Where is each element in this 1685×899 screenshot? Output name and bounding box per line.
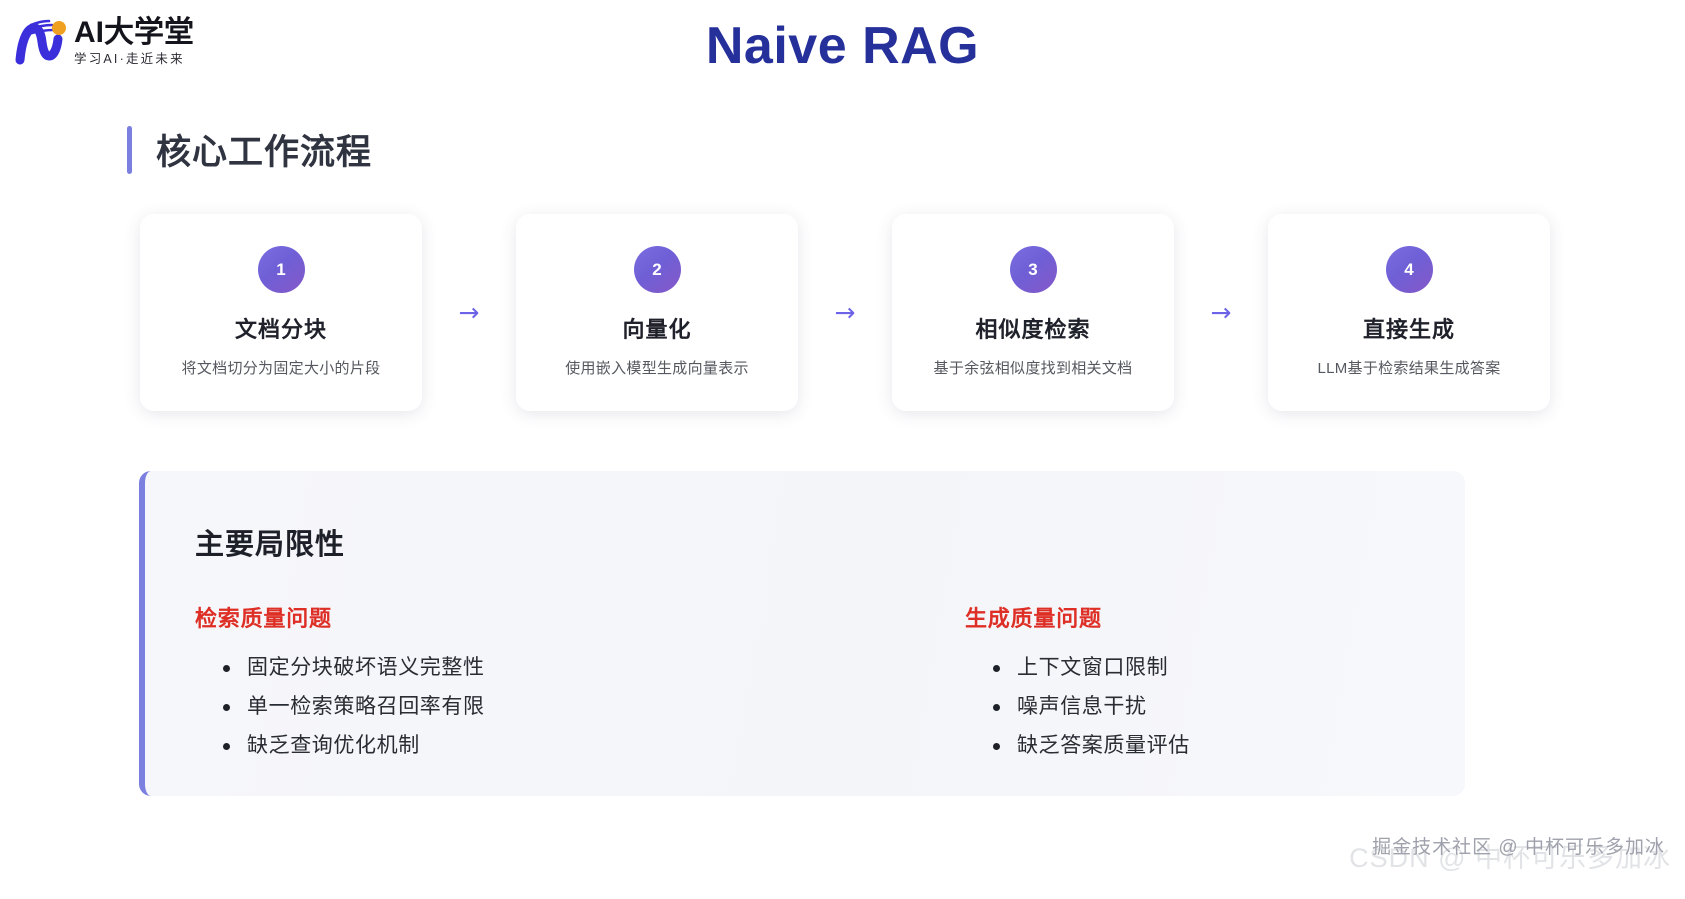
step-description: 基于余弦相似度找到相关文档 bbox=[934, 357, 1133, 378]
flow-card-2[interactable]: 2 向量化 使用嵌入模型生成向量表示 bbox=[516, 214, 798, 411]
limitations-subtitle: 检索质量问题 bbox=[195, 601, 835, 633]
arrow-right-icon: → bbox=[828, 300, 862, 325]
limitations-panel: 主要局限性 检索质量问题 固定分块破坏语义完整性 单一检索策略召回率有限 缺乏查… bbox=[139, 471, 1465, 796]
section-accent-bar bbox=[127, 126, 132, 174]
list-item: 缺乏答案质量评估 bbox=[993, 735, 1475, 756]
arrow-right-icon: → bbox=[1204, 300, 1238, 325]
list-item: 噪声信息干扰 bbox=[993, 696, 1475, 717]
flow-card-3[interactable]: 3 相似度检索 基于余弦相似度找到相关文档 bbox=[892, 214, 1174, 411]
limitations-column-generation: 生成质量问题 上下文窗口限制 噪声信息干扰 缺乏答案质量评估 bbox=[835, 601, 1475, 774]
flow-card-4[interactable]: 4 直接生成 LLM基于检索结果生成答案 bbox=[1268, 214, 1550, 411]
list-item: 上下文窗口限制 bbox=[993, 657, 1475, 678]
workflow-steps: 1 文档分块 将文档切分为固定大小的片段 → 2 向量化 使用嵌入模型生成向量表… bbox=[140, 214, 1550, 411]
list-item: 缺乏查询优化机制 bbox=[223, 735, 835, 756]
list-item: 单一检索策略召回率有限 bbox=[223, 696, 835, 717]
step-title: 直接生成 bbox=[1363, 312, 1455, 344]
limitations-list: 上下文窗口限制 噪声信息干扰 缺乏答案质量评估 bbox=[965, 657, 1475, 756]
step-number-badge: 1 bbox=[258, 246, 305, 293]
section-heading: 核心工作流程 bbox=[127, 124, 372, 175]
limitations-subtitle: 生成质量问题 bbox=[965, 601, 1475, 633]
step-title: 向量化 bbox=[622, 312, 691, 344]
step-title: 相似度检索 bbox=[975, 312, 1090, 344]
page-title: Naive RAG bbox=[0, 16, 1685, 76]
step-title: 文档分块 bbox=[235, 312, 327, 344]
step-number-badge: 3 bbox=[1010, 246, 1057, 293]
limitations-columns: 检索质量问题 固定分块破坏语义完整性 单一检索策略召回率有限 缺乏查询优化机制 … bbox=[195, 601, 1465, 774]
arrow-right-icon: → bbox=[452, 300, 486, 325]
limitations-list: 固定分块破坏语义完整性 单一检索策略召回率有限 缺乏查询优化机制 bbox=[195, 657, 835, 756]
step-description: 将文档切分为固定大小的片段 bbox=[182, 357, 381, 378]
watermark-main: 掘金技术社区 @ 中杯可乐多加冰 bbox=[1372, 832, 1665, 859]
step-description: LLM基于检索结果生成答案 bbox=[1317, 357, 1500, 378]
step-number-badge: 4 bbox=[1386, 246, 1433, 293]
flow-card-1[interactable]: 1 文档分块 将文档切分为固定大小的片段 bbox=[140, 214, 422, 411]
step-number-badge: 2 bbox=[634, 246, 681, 293]
step-description: 使用嵌入模型生成向量表示 bbox=[565, 357, 749, 378]
limitations-title: 主要局限性 bbox=[195, 521, 1465, 563]
section-title: 核心工作流程 bbox=[156, 124, 372, 175]
limitations-column-retrieval: 检索质量问题 固定分块破坏语义完整性 单一检索策略召回率有限 缺乏查询优化机制 bbox=[195, 601, 835, 774]
list-item: 固定分块破坏语义完整性 bbox=[223, 657, 835, 678]
